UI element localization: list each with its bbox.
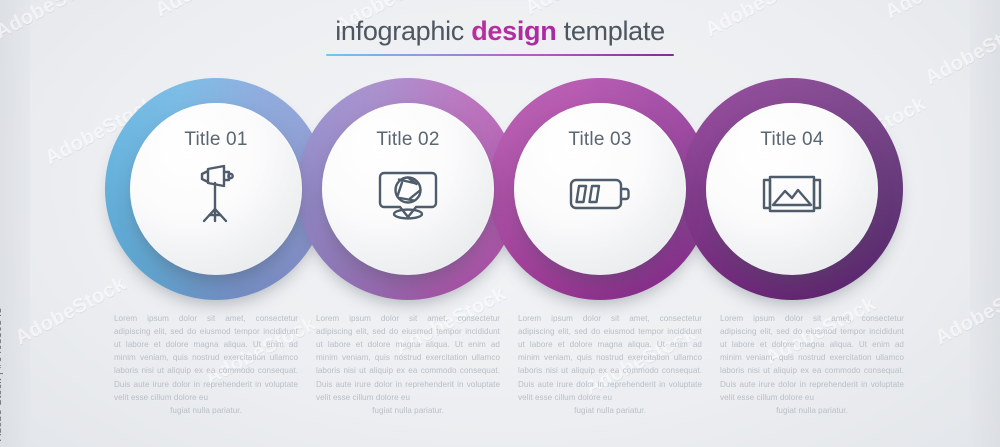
step-body-last-4: fugiat nulla pariatur. bbox=[720, 404, 904, 417]
step-body-main-2: Lorem ipsum dolor sit amet, consectetur … bbox=[316, 314, 500, 402]
step-node-2[interactable]: Title 02 bbox=[297, 78, 519, 300]
step-text-col-4: Lorem ipsum dolor sit amet, consectetur … bbox=[711, 312, 913, 417]
step-title-3: Title 03 bbox=[568, 129, 631, 151]
step-body-4: Lorem ipsum dolor sit amet, consectetur … bbox=[720, 312, 904, 417]
step-body-last-1: fugiat nulla pariatur. bbox=[114, 404, 298, 417]
step-body-last-2: fugiat nulla pariatur. bbox=[316, 404, 500, 417]
battery-charge-level-icon bbox=[564, 161, 636, 227]
studio-softbox-light-icon bbox=[180, 161, 252, 227]
step-text-col-3: Lorem ipsum dolor sit amet, consectetur … bbox=[509, 312, 711, 417]
step-body-last-3: fugiat nulla pariatur. bbox=[518, 404, 702, 417]
step-body-1: Lorem ipsum dolor sit amet, consectetur … bbox=[114, 312, 298, 417]
infographic-canvas: AdobeStockAdobeStockAdobeStockAdobeStock… bbox=[0, 0, 1000, 447]
step-title-4: Title 04 bbox=[760, 129, 823, 151]
step-node-4[interactable]: Title 04 bbox=[681, 78, 903, 300]
step-body-2: Lorem ipsum dolor sit amet, consectetur … bbox=[316, 312, 500, 417]
step-title-2: Title 02 bbox=[376, 129, 439, 151]
steps-text-row: Lorem ipsum dolor sit amet, consectetur … bbox=[105, 312, 915, 417]
step-body-3: Lorem ipsum dolor sit amet, consectetur … bbox=[518, 312, 702, 417]
left-edge-band bbox=[0, 0, 30, 447]
page-title-accent: design bbox=[471, 16, 556, 46]
photo-landscape-scroll-icon bbox=[756, 161, 828, 227]
camera-aperture-location-pin-icon bbox=[372, 161, 444, 227]
step-body-main-1: Lorem ipsum dolor sit amet, consectetur … bbox=[114, 314, 298, 402]
page-title-part2: template bbox=[556, 16, 664, 46]
step-node-3[interactable]: Title 03 bbox=[489, 78, 711, 300]
step-disc-3[interactable]: Title 03 bbox=[514, 103, 686, 275]
steps-ring-row: Title 01 bbox=[105, 78, 915, 300]
step-node-1[interactable]: Title 01 bbox=[105, 78, 327, 300]
step-disc-2[interactable]: Title 02 bbox=[322, 103, 494, 275]
step-disc-4[interactable]: Title 04 bbox=[706, 103, 878, 275]
right-edge-band bbox=[970, 0, 1000, 447]
page-title-part1: infographic bbox=[335, 16, 471, 46]
page-title: infographic design template bbox=[0, 18, 1000, 45]
step-title-1: Title 01 bbox=[184, 129, 247, 151]
step-text-col-1: Lorem ipsum dolor sit amet, consectetur … bbox=[105, 312, 307, 417]
step-body-main-3: Lorem ipsum dolor sit amet, consectetur … bbox=[518, 314, 702, 402]
step-body-main-4: Lorem ipsum dolor sit amet, consectetur … bbox=[720, 314, 904, 402]
step-text-col-2: Lorem ipsum dolor sit amet, consectetur … bbox=[307, 312, 509, 417]
step-disc-1[interactable]: Title 01 bbox=[130, 103, 302, 275]
header-gradient-rule bbox=[326, 54, 674, 56]
header: infographic design template bbox=[0, 18, 1000, 56]
stock-credit-label: Adobe Stock | #640850848 bbox=[0, 307, 4, 441]
